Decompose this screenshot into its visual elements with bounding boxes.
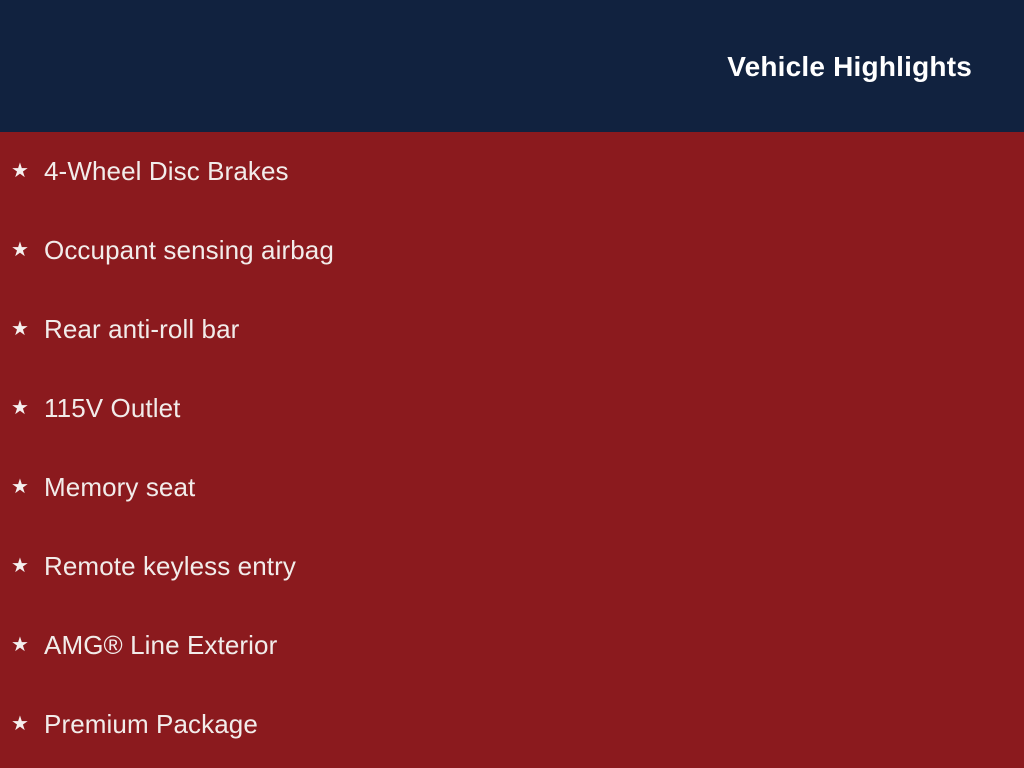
list-item-label: Memory seat bbox=[44, 473, 195, 502]
star-icon: ★ bbox=[11, 398, 44, 418]
highlights-panel: ★ 4-Wheel Disc Brakes ★ Occupant sensing… bbox=[0, 132, 1024, 768]
star-icon: ★ bbox=[11, 714, 44, 734]
list-item: ★ Memory seat bbox=[0, 448, 1024, 527]
list-item-label: Premium Package bbox=[44, 710, 258, 739]
slide-header: Vehicle Highlights bbox=[0, 0, 1024, 132]
list-item: ★ 4-Wheel Disc Brakes bbox=[0, 132, 1024, 211]
vehicle-highlights-slide: Vehicle Highlights ★ 4-Wheel Disc Brakes… bbox=[0, 0, 1024, 768]
list-item: ★ AMG® Line Exterior bbox=[0, 606, 1024, 685]
list-item: ★ Remote keyless entry bbox=[0, 527, 1024, 606]
page-title: Vehicle Highlights bbox=[727, 53, 972, 81]
list-item-label: Remote keyless entry bbox=[44, 552, 296, 581]
star-icon: ★ bbox=[11, 240, 44, 260]
star-icon: ★ bbox=[11, 635, 44, 655]
star-icon: ★ bbox=[11, 161, 44, 181]
list-item-label: Rear anti-roll bar bbox=[44, 315, 239, 344]
star-icon: ★ bbox=[11, 556, 44, 576]
list-item-label: Occupant sensing airbag bbox=[44, 236, 334, 265]
list-item-label: AMG® Line Exterior bbox=[44, 631, 277, 660]
list-item-label: 4-Wheel Disc Brakes bbox=[44, 157, 289, 186]
list-item: ★ 115V Outlet bbox=[0, 369, 1024, 448]
list-item-label: 115V Outlet bbox=[44, 394, 180, 423]
list-item: ★ Rear anti-roll bar bbox=[0, 290, 1024, 369]
star-icon: ★ bbox=[11, 477, 44, 497]
list-item: ★ Premium Package bbox=[0, 685, 1024, 764]
vehicle-highlights-list: ★ 4-Wheel Disc Brakes ★ Occupant sensing… bbox=[0, 132, 1024, 764]
list-item: ★ Occupant sensing airbag bbox=[0, 211, 1024, 290]
star-icon: ★ bbox=[11, 319, 44, 339]
